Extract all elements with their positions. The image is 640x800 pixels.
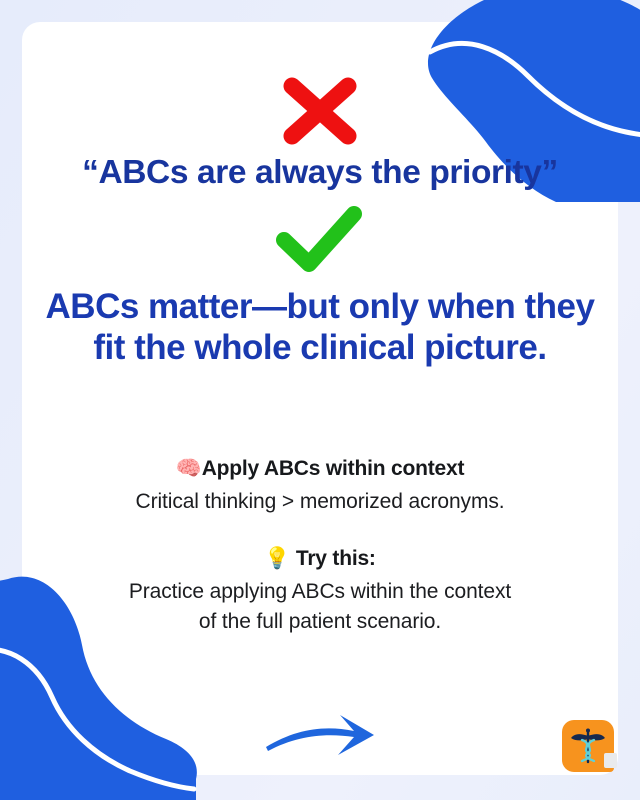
try-block: 💡 Try this: Practice applying ABCs withi… — [40, 545, 600, 637]
try-block-body-line-2: of the full patient scenario. — [40, 607, 600, 637]
context-block-title: 🧠Apply ABCs within context — [40, 455, 600, 482]
brain-emoji: 🧠 — [176, 456, 202, 480]
context-block-body: Critical thinking > memorized acronyms. — [40, 487, 600, 517]
caduceus-logo[interactable] — [562, 720, 614, 772]
try-block-body: Practice applying ABCs within the contex… — [40, 577, 600, 637]
swipe-right-arrow-icon[interactable] — [262, 707, 382, 763]
red-cross-mark-icon — [277, 74, 363, 148]
try-block-title-text: Try this: — [296, 547, 376, 570]
green-check-mark-icon — [274, 204, 366, 276]
context-block-title-text: Apply ABCs within context — [202, 457, 465, 480]
negative-headline: “ABCs are always the priority” — [20, 154, 620, 192]
light-bulb-emoji: 💡 — [264, 546, 290, 570]
positive-headline-line-2: fit the whole clinical picture. — [30, 327, 610, 368]
poster-canvas: “ABCs are always the priority” ABCs matt… — [0, 0, 640, 800]
try-block-body-line-1: Practice applying ABCs within the contex… — [40, 577, 600, 607]
context-block: 🧠Apply ABCs within context Critical thin… — [40, 455, 600, 517]
try-block-title: 💡 Try this: — [40, 545, 600, 572]
positive-headline-line-1: ABCs matter—but only when they — [30, 286, 610, 327]
poster-content: “ABCs are always the priority” ABCs matt… — [0, 0, 640, 800]
positive-headline: ABCs matter—but only when they fit the w… — [30, 286, 610, 369]
logo-corner-badge — [604, 753, 617, 768]
